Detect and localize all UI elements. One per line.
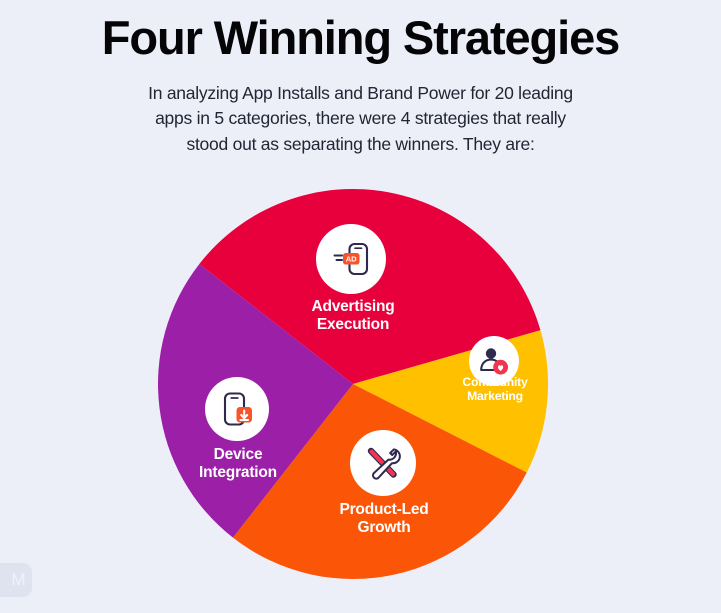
svg-text:AD: AD (346, 254, 357, 263)
community-heart-icon (478, 345, 510, 377)
infographic-page: Four Winning Strategies In analyzing App… (0, 0, 721, 613)
wrench-screwdriver-icon-badge (350, 430, 416, 496)
phone-ad-icon-badge: AD (316, 224, 386, 294)
corner-badge[interactable]: M (0, 563, 32, 597)
header: Four Winning Strategies In analyzing App… (0, 0, 721, 157)
page-title: Four Winning Strategies (0, 13, 721, 64)
subtitle-line-3: stood out as separating the winners. The… (0, 132, 721, 157)
phone-download-icon (217, 389, 257, 429)
subtitle-line-2: apps in 5 categories, there were 4 strat… (0, 106, 721, 131)
wrench-screwdriver-icon (362, 442, 404, 484)
page-subtitle: In analyzing App Installs and Brand Powe… (0, 81, 721, 157)
community-heart-icon-badge (469, 336, 519, 386)
phone-download-icon-badge (205, 377, 269, 441)
subtitle-line-1: In analyzing App Installs and Brand Powe… (0, 81, 721, 106)
phone-ad-icon: AD (329, 237, 373, 281)
